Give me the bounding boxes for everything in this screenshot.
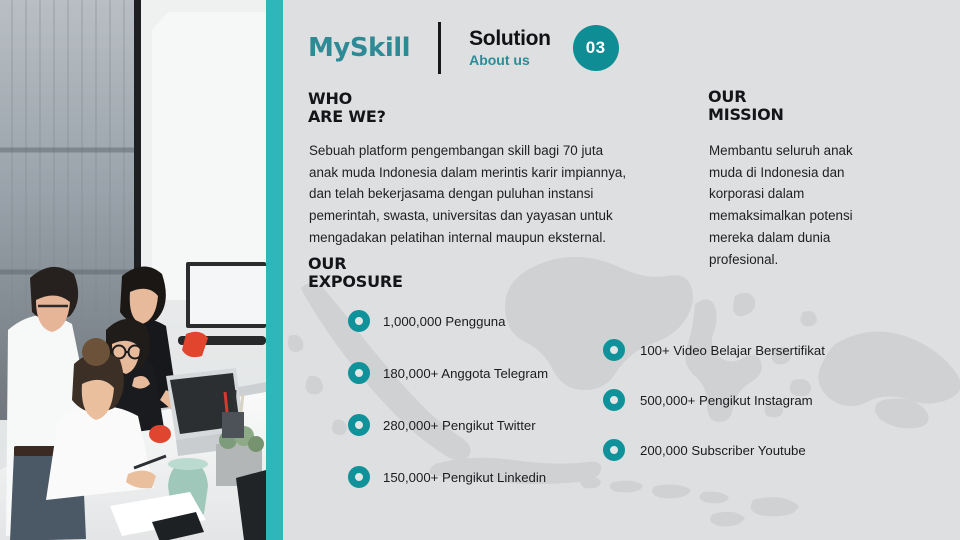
- list-item: 180,000+ Anggota Telegram: [348, 362, 548, 384]
- stat-label: 180,000+ Anggota Telegram: [383, 366, 548, 381]
- stat-label: 200,000 Subscriber Youtube: [640, 443, 806, 458]
- content-panel: MySkill Solution About us 03 WHO ARE WE?…: [283, 0, 960, 540]
- stat-label: 280,000+ Pengikut Twitter: [383, 418, 536, 433]
- our-mission-body: Membantu seluruh anak muda di Indonesia …: [709, 140, 884, 270]
- list-item: 100+ Video Belajar Bersertifikat: [603, 339, 825, 361]
- list-item: 500,000+ Pengikut Instagram: [603, 389, 825, 411]
- list-item: 150,000+ Pengikut Linkedin: [348, 466, 548, 488]
- myskill-logo[interactable]: MySkill: [308, 35, 410, 61]
- bullet-ring-icon: [603, 439, 625, 461]
- stat-label: 150,000+ Pengikut Linkedin: [383, 470, 546, 485]
- bullet-ring-icon: [348, 310, 370, 332]
- who-heading-line1: WHO: [308, 90, 386, 108]
- slide-canvas: MySkill Solution About us 03 WHO ARE WE?…: [0, 0, 960, 540]
- our-exposure-heading: OUR EXPOSURE: [308, 255, 403, 291]
- slide-header: MySkill Solution About us 03: [308, 20, 619, 76]
- who-are-we-body: Sebuah platform pengembangan skill bagi …: [309, 140, 629, 249]
- section-number-value: 03: [586, 38, 606, 58]
- teal-accent-bar: [266, 0, 283, 540]
- bullet-ring-icon: [348, 362, 370, 384]
- page-title: Solution: [469, 27, 551, 51]
- exposure-heading-line2: EXPOSURE: [308, 273, 403, 291]
- our-mission-heading: OUR MISSION: [708, 88, 784, 124]
- team-photo: [0, 0, 266, 540]
- who-are-we-heading: WHO ARE WE?: [308, 90, 386, 126]
- mission-heading-line1: OUR: [708, 88, 784, 106]
- list-item: 200,000 Subscriber Youtube: [603, 439, 825, 461]
- exposure-stats-left: 1,000,000 Pengguna 180,000+ Anggota Tele…: [348, 310, 548, 518]
- bullet-ring-icon: [348, 414, 370, 436]
- team-photo-illustration: [0, 0, 266, 540]
- section-number-badge: 03: [573, 25, 619, 71]
- list-item: 1,000,000 Pengguna: [348, 310, 548, 332]
- stat-label: 500,000+ Pengikut Instagram: [640, 393, 813, 408]
- stat-label: 1,000,000 Pengguna: [383, 314, 505, 329]
- exposure-heading-line1: OUR: [308, 255, 403, 273]
- bullet-ring-icon: [603, 339, 625, 361]
- page-subtitle: About us: [469, 52, 551, 69]
- bullet-ring-icon: [603, 389, 625, 411]
- who-heading-line2: ARE WE?: [308, 108, 386, 126]
- stat-label: 100+ Video Belajar Bersertifikat: [640, 343, 825, 358]
- header-title-block: Solution About us: [469, 27, 551, 69]
- list-item: 280,000+ Pengikut Twitter: [348, 414, 548, 436]
- mission-heading-line2: MISSION: [708, 106, 784, 124]
- exposure-stats-right: 100+ Video Belajar Bersertifikat 500,000…: [603, 339, 825, 489]
- header-divider: [438, 22, 441, 74]
- bullet-ring-icon: [348, 466, 370, 488]
